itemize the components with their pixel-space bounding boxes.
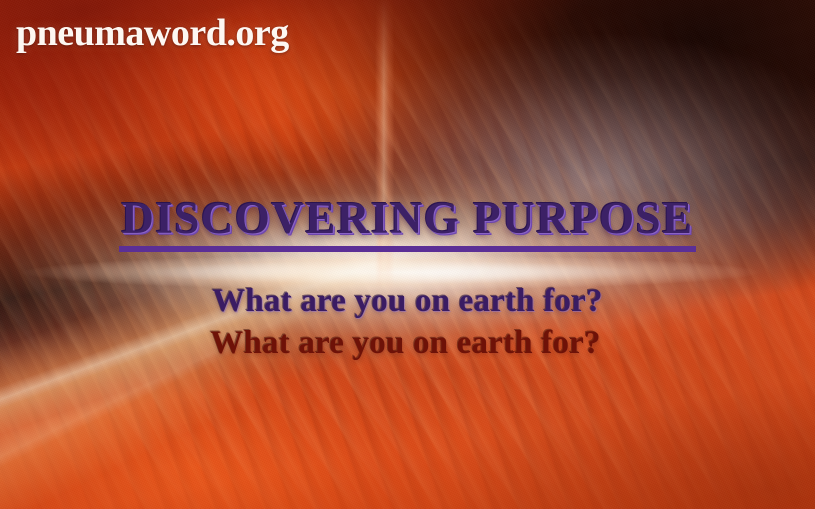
slide-content: pneumaword.org DISCOVERING PURPOSE What …	[0, 0, 815, 509]
subtitle-container: What are you on earth for? What are you …	[0, 281, 815, 364]
page-title: DISCOVERING PURPOSE	[119, 196, 695, 252]
subtitle-line-primary: What are you on earth for?	[0, 281, 815, 323]
site-logo-wordmark: pneumaword.org	[16, 14, 289, 52]
headline-container: DISCOVERING PURPOSE	[0, 196, 815, 252]
subtitle-line-echo: What are you on earth for?	[0, 323, 815, 365]
slide-canvas: pneumaword.org DISCOVERING PURPOSE What …	[0, 0, 815, 509]
